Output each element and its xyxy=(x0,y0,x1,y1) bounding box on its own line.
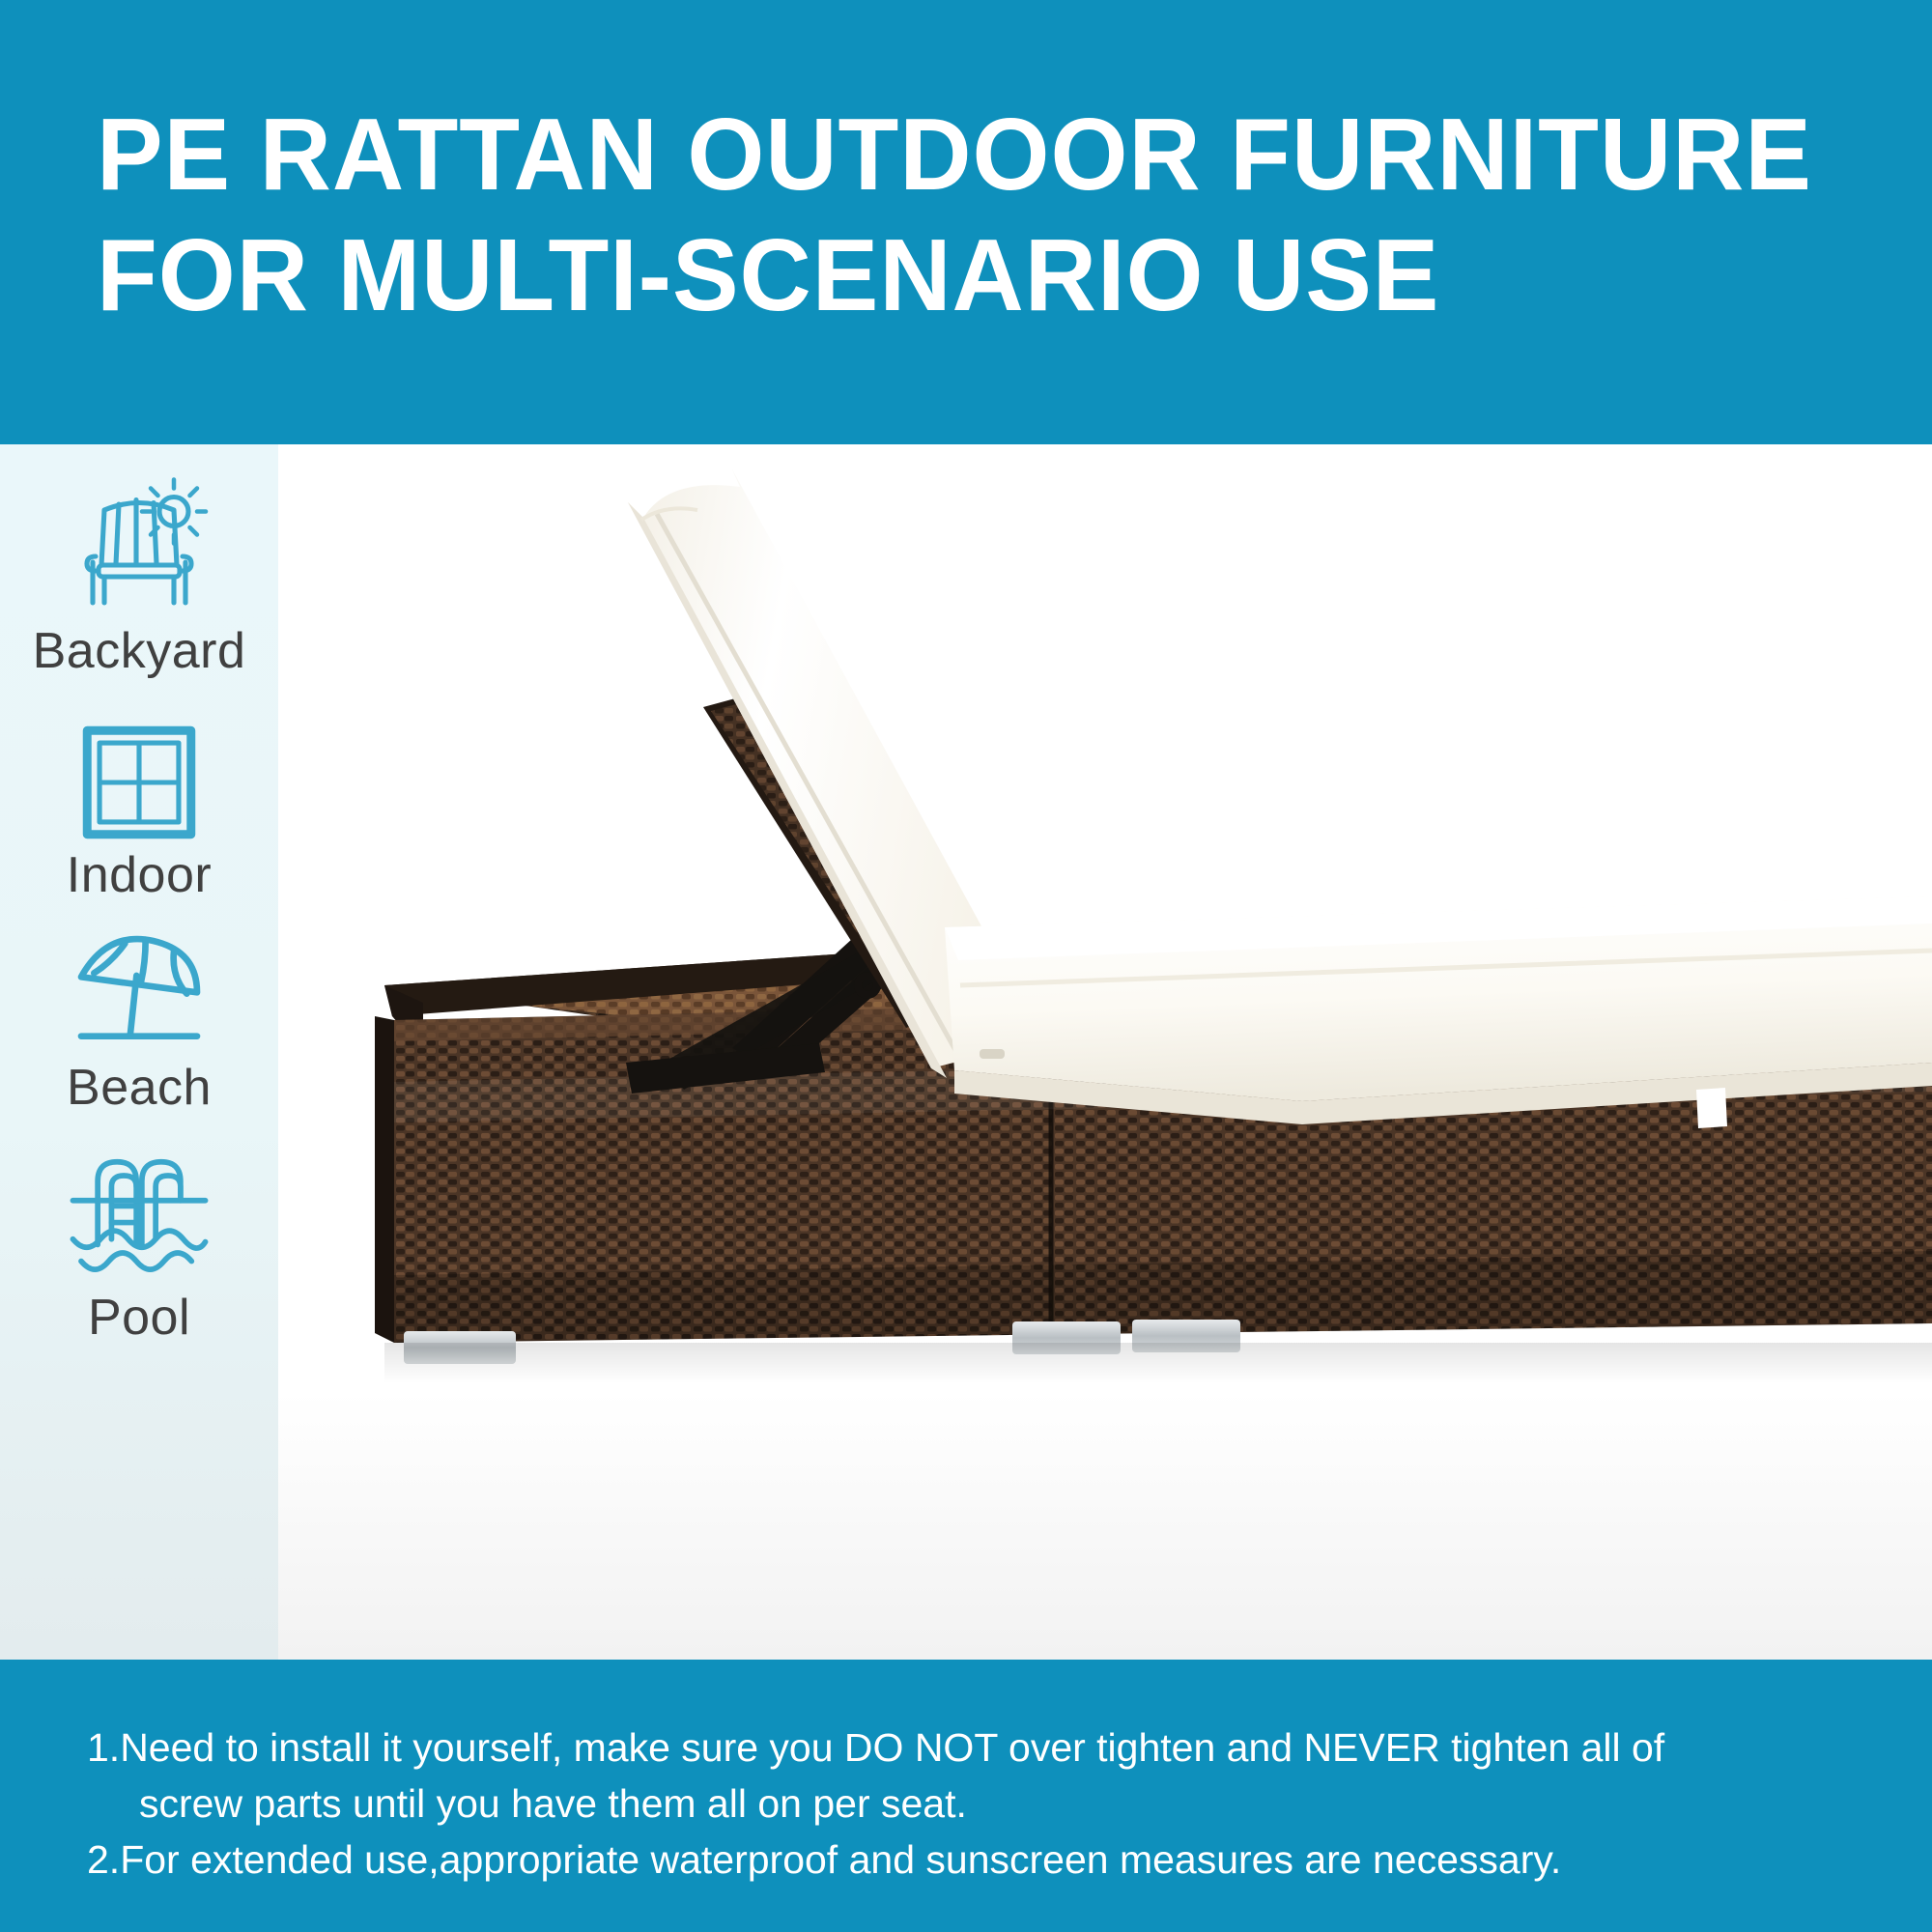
product-marketing-banner: PE RATTAN OUTDOOR FURNITURE FOR MULTI-SC… xyxy=(0,0,1932,1932)
sidebar-item-pool[interactable]: Pool xyxy=(0,1142,278,1343)
header-title-line-1: PE RATTAN OUTDOOR FURNITURE xyxy=(97,95,1877,215)
header-banner: PE RATTAN OUTDOOR FURNITURE FOR MULTI-SC… xyxy=(0,0,1932,444)
footer-notes: 1.Need to install it yourself, make sure… xyxy=(0,1660,1932,1932)
sidebar-item-indoor[interactable]: Indoor xyxy=(0,721,278,900)
sidebar-item-backyard[interactable]: Backyard xyxy=(0,475,278,676)
chaise-lounge-illustration xyxy=(278,444,1932,1660)
window-four-pane-icon xyxy=(77,721,201,844)
footer-note-2: 2.For extended use,appropriate waterproo… xyxy=(87,1832,1845,1888)
pool-ladder-waves-icon xyxy=(62,1142,216,1287)
sidebar-item-label: Backyard xyxy=(33,626,246,676)
adirondack-chair-sun-icon xyxy=(67,475,212,620)
sidebar-item-label: Indoor xyxy=(67,850,212,900)
product-photo xyxy=(278,444,1932,1660)
footer-note-1: 1.Need to install it yourself, make sure… xyxy=(87,1719,1845,1776)
beach-umbrella-icon xyxy=(67,933,212,1057)
sidebar-item-beach[interactable]: Beach xyxy=(0,933,278,1113)
sidebar-item-label: Beach xyxy=(67,1063,212,1113)
seat-cushion xyxy=(945,896,1932,1128)
header-title-line-2: FOR MULTI-SCENARIO USE xyxy=(97,215,1877,336)
scenario-sidebar: Backyard Indoor xyxy=(0,444,278,1660)
sidebar-item-label: Pool xyxy=(88,1293,190,1343)
footer-note-1-cont: screw parts until you have them all on p… xyxy=(87,1776,1845,1832)
